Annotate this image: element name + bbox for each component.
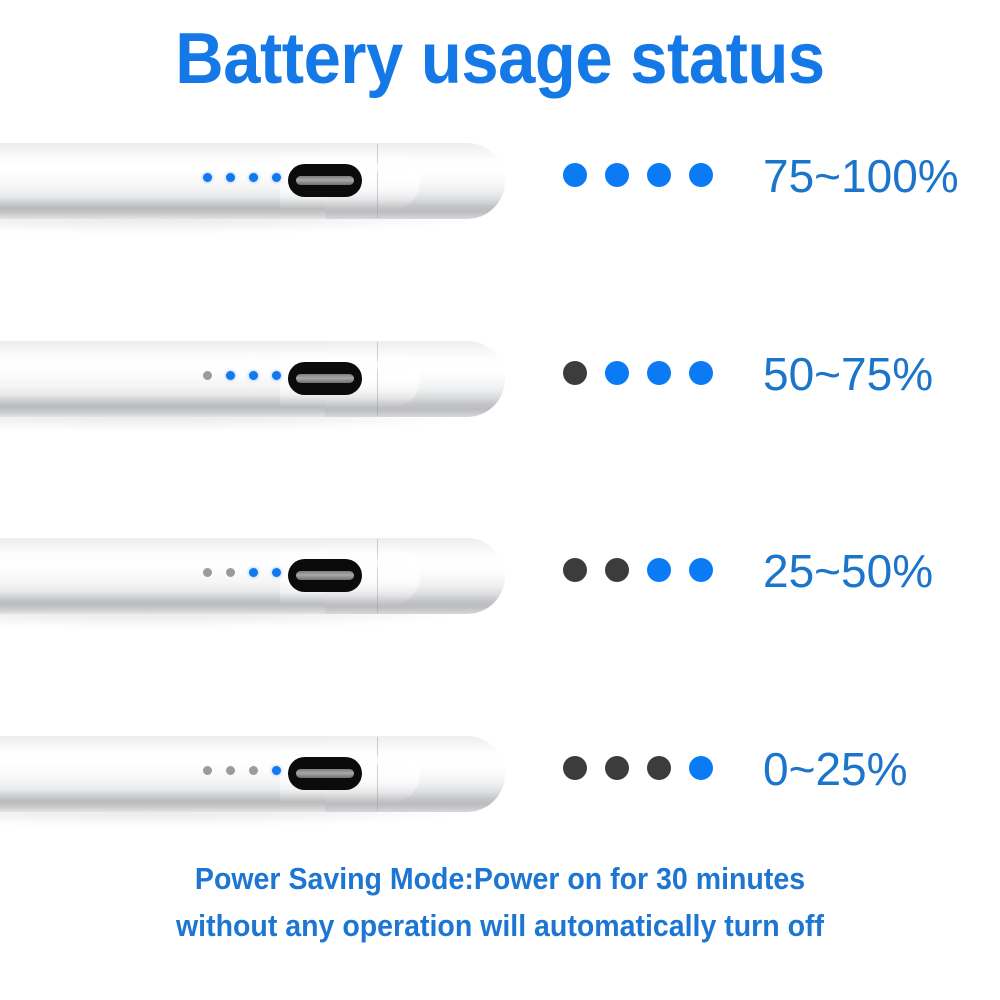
battery-range-label: 50~75% xyxy=(763,347,933,401)
pen-led-2-off xyxy=(226,766,235,775)
status-dot-1-off xyxy=(563,361,587,385)
battery-range-label: 25~50% xyxy=(763,544,933,598)
pen-led-2-off xyxy=(226,568,235,577)
usb-c-port-inner-bar xyxy=(296,374,354,383)
pen-seam-line xyxy=(377,144,378,218)
usb-c-port-icon xyxy=(288,757,362,790)
pen-led-4-on xyxy=(272,371,281,380)
caption-line-1: Power Saving Mode:Power on for 30 minute… xyxy=(40,855,960,902)
pen-led-4-on xyxy=(272,173,281,182)
battery-range-label: 0~25% xyxy=(763,742,908,796)
pen-led-2-on xyxy=(226,173,235,182)
status-dot-group xyxy=(563,163,713,187)
pen-led-1-off xyxy=(203,766,212,775)
usb-c-port-icon xyxy=(288,362,362,395)
status-dot-3-on xyxy=(647,558,671,582)
pen-led-3-on xyxy=(249,173,258,182)
status-dot-4-on xyxy=(689,558,713,582)
pen-led-2-on xyxy=(226,371,235,380)
pen-led-3-off xyxy=(249,766,258,775)
status-dot-2-on xyxy=(605,361,629,385)
caption-line-2: without any operation will automatically… xyxy=(40,902,960,949)
pen-led-3-on xyxy=(249,371,258,380)
pen-led-1-on xyxy=(203,173,212,182)
status-dot-2-on xyxy=(605,163,629,187)
status-dot-group xyxy=(563,361,713,385)
battery-row: 50~75% xyxy=(0,323,1000,433)
pen-led-1-off xyxy=(203,568,212,577)
status-dot-1-on xyxy=(563,163,587,187)
stylus-pen-illustration xyxy=(0,341,505,417)
status-dot-1-off xyxy=(563,756,587,780)
pen-seam-line xyxy=(377,539,378,613)
pen-led-3-on xyxy=(249,568,258,577)
stylus-pen-illustration xyxy=(0,538,505,614)
status-dot-4-on xyxy=(689,361,713,385)
status-dot-1-off xyxy=(563,558,587,582)
stylus-pen-illustration xyxy=(0,143,505,219)
battery-status-rows: 75~100%50~75%25~50%0~25% xyxy=(0,0,1000,1000)
pen-led-1-off xyxy=(203,371,212,380)
usb-c-port-inner-bar xyxy=(296,176,354,185)
usb-c-port-icon xyxy=(288,559,362,592)
pen-seam-line xyxy=(377,737,378,811)
status-dot-3-off xyxy=(647,756,671,780)
pen-led-group xyxy=(203,568,281,577)
battery-row: 75~100% xyxy=(0,125,1000,235)
usb-c-port-inner-bar xyxy=(296,571,354,580)
status-dot-4-on xyxy=(689,756,713,780)
pen-led-group xyxy=(203,766,281,775)
status-dot-group xyxy=(563,558,713,582)
pen-led-4-on xyxy=(272,766,281,775)
battery-row: 0~25% xyxy=(0,718,1000,828)
status-dot-3-on xyxy=(647,361,671,385)
usb-c-port-icon xyxy=(288,164,362,197)
footer-caption: Power Saving Mode:Power on for 30 minute… xyxy=(0,855,1000,949)
status-dot-2-off xyxy=(605,756,629,780)
stylus-pen-illustration xyxy=(0,736,505,812)
pen-seam-line xyxy=(377,342,378,416)
pen-led-4-on xyxy=(272,568,281,577)
usb-c-port-inner-bar xyxy=(296,769,354,778)
pen-led-group xyxy=(203,371,281,380)
pen-led-group xyxy=(203,173,281,182)
battery-range-label: 75~100% xyxy=(763,149,959,203)
status-dot-2-off xyxy=(605,558,629,582)
status-dot-3-on xyxy=(647,163,671,187)
status-dot-4-on xyxy=(689,163,713,187)
battery-row: 25~50% xyxy=(0,520,1000,630)
status-dot-group xyxy=(563,756,713,780)
